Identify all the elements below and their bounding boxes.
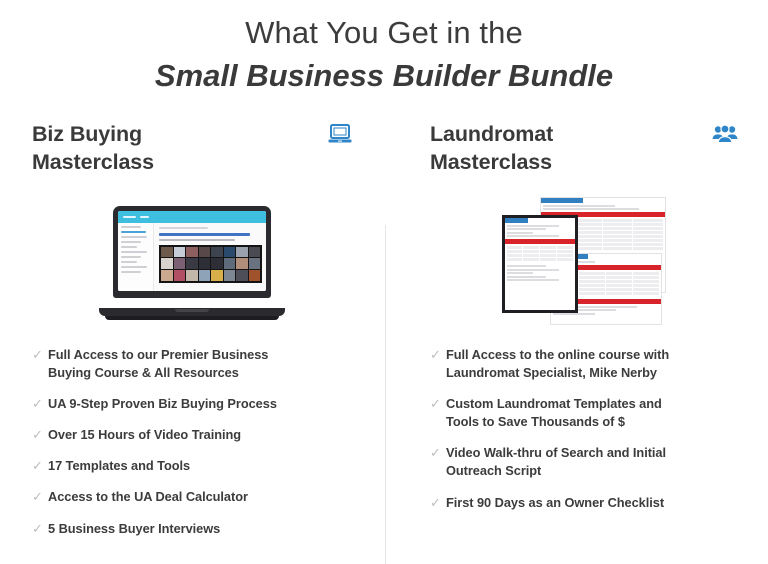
feature-text: First 90 Days as an Owner Checklist (446, 494, 664, 512)
check-icon: ✓ (32, 426, 48, 443)
list-item: ✓ Video Walk-thru of Search and Initial … (430, 444, 738, 480)
offer-card-laundromat: Laundromat Masterclass (384, 120, 768, 551)
list-item: ✓ Custom Laundromat Templates and Tools … (430, 395, 738, 431)
spreadsheet-mockup (430, 196, 738, 326)
card-title: Biz Buying Masterclass (32, 120, 247, 177)
list-item: ✓ Access to the UA Deal Calculator (32, 488, 352, 506)
offer-card-biz-buying: Biz Buying Masterclass (0, 120, 384, 551)
feature-list: ✓ Full Access to the online course with … (430, 346, 738, 512)
check-icon: ✓ (430, 395, 446, 412)
list-item: ✓ UA 9-Step Proven Biz Buying Process (32, 395, 352, 413)
list-item: ✓ 17 Templates and Tools (32, 457, 352, 475)
users-group-icon (712, 120, 738, 149)
list-item: ✓ 5 Business Buyer Interviews (32, 520, 352, 538)
list-item: ✓ Full Access to our Premier Business Bu… (32, 346, 352, 382)
list-item: ✓ First 90 Days as an Owner Checklist (430, 494, 738, 512)
feature-list: ✓ Full Access to our Premier Business Bu… (32, 346, 352, 538)
feature-text: UA 9-Step Proven Biz Buying Process (48, 395, 277, 413)
list-item: ✓ Over 15 Hours of Video Training (32, 426, 352, 444)
check-icon: ✓ (430, 494, 446, 511)
feature-text: Access to the UA Deal Calculator (48, 488, 248, 506)
offer-columns: Biz Buying Masterclass (0, 120, 768, 551)
check-icon: ✓ (32, 346, 48, 363)
page-title: What You Get in the Small Business Build… (0, 0, 768, 96)
check-icon: ✓ (32, 395, 48, 412)
check-icon: ✓ (32, 457, 48, 474)
feature-text: 5 Business Buyer Interviews (48, 520, 220, 538)
headline-line-1: What You Get in the (0, 14, 768, 52)
check-icon: ✓ (32, 488, 48, 505)
feature-text: Over 15 Hours of Video Training (48, 426, 241, 444)
check-icon: ✓ (32, 520, 48, 537)
feature-text: Full Access to the online course with La… (446, 346, 684, 382)
feature-text: 17 Templates and Tools (48, 457, 190, 475)
spreadsheet-highlighted (502, 215, 578, 313)
check-icon: ✓ (430, 444, 446, 461)
card-header: Laundromat Masterclass (430, 120, 738, 182)
check-icon: ✓ (430, 346, 446, 363)
laptop-icon (328, 120, 352, 149)
headline-line-2: Small Business Builder Bundle (0, 57, 768, 96)
bundle-offer-page: What You Get in the Small Business Build… (0, 0, 768, 564)
feature-text: Full Access to our Premier Business Buyi… (48, 346, 298, 382)
laptop-mockup (32, 196, 352, 326)
list-item: ✓ Full Access to the online course with … (430, 346, 738, 382)
feature-text: Custom Laundromat Templates and Tools to… (446, 395, 684, 431)
card-header: Biz Buying Masterclass (32, 120, 352, 182)
card-title: Laundromat Masterclass (430, 120, 645, 177)
feature-text: Video Walk-thru of Search and Initial Ou… (446, 444, 684, 480)
